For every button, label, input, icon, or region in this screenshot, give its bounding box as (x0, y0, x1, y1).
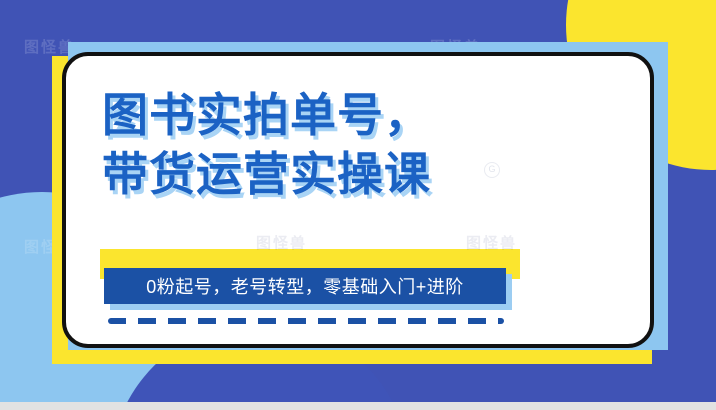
dashed-divider (108, 318, 504, 324)
headline-block: 图书实拍单号， 带货运营实操课 (102, 86, 614, 204)
card-content: 图书实拍单号， 带货运营实操课 图怪兽 图怪兽 G G 0粉起号，老号转型，零基… (66, 56, 650, 344)
subtitle-ribbon: 0粉起号，老号转型，零基础入门+进阶 (104, 268, 506, 304)
title-line-1: 图书实拍单号， (102, 86, 614, 145)
bottom-strip (0, 402, 716, 410)
title-line-2: 带货运营实操课 (102, 145, 614, 204)
subtitle-text: 0粉起号，老号转型，零基础入门+进阶 (146, 273, 464, 299)
main-card: 图书实拍单号， 带货运营实操课 图怪兽 图怪兽 G G 0粉起号，老号转型，零基… (62, 52, 654, 348)
poster-canvas: 图怪兽 图怪兽 图怪兽 图书实拍单号， 带货运营实操课 图怪兽 图怪兽 G G … (0, 0, 716, 410)
page-title: 图书实拍单号， 带货运营实操课 (102, 86, 614, 204)
